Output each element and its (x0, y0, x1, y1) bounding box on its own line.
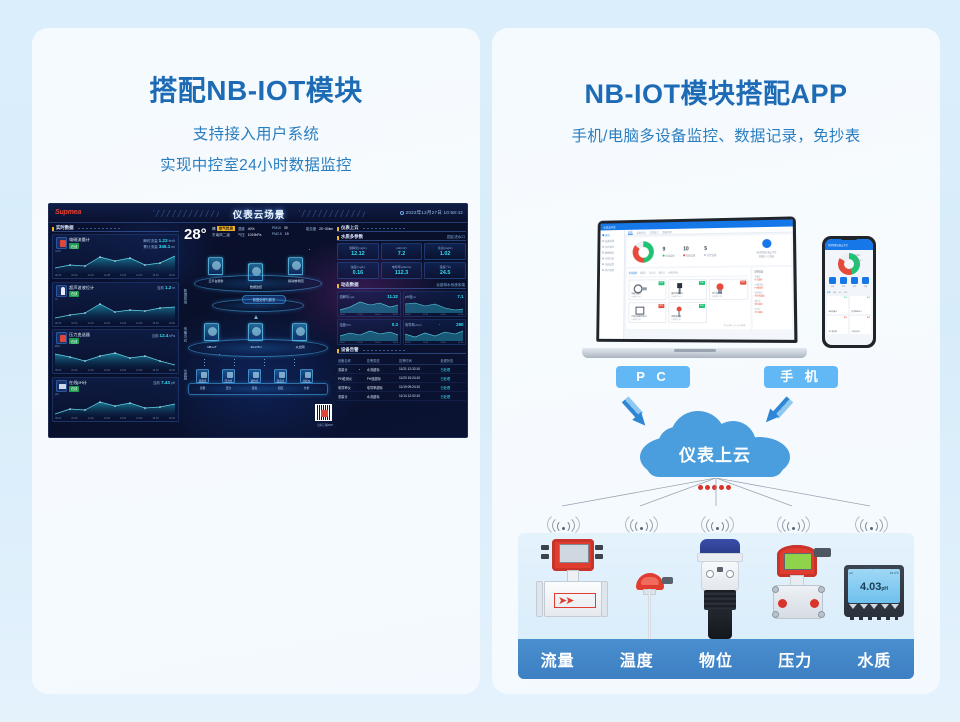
section-divider (78, 228, 120, 230)
param-value: 12.12 (339, 251, 377, 257)
qr-code[interactable] (315, 404, 332, 421)
param-label: 余氯(mg/L) (426, 246, 464, 250)
stat-value: 9 (663, 246, 675, 252)
axis-tick: 15:00 (152, 369, 158, 372)
axis-tick: 08:00 (55, 274, 61, 277)
list-item[interactable]: 压力计压力超标 (755, 307, 790, 313)
device-sub: 设备编号 003 (712, 295, 722, 297)
mini-chart: 溶解氧11.32mg/L 08:0012:0014:0016:00 (337, 291, 401, 317)
level-meter-horn (708, 609, 732, 639)
device-name: 超声波液位计 (852, 311, 862, 313)
level-meter-indicator (706, 570, 714, 578)
cell: PH检测仪 (337, 374, 366, 383)
label-flow: 流量 (518, 647, 597, 671)
tab-device-status[interactable]: 设备状态 (636, 230, 645, 234)
status-tag: 在线 (867, 297, 870, 299)
header-decoration-right (299, 210, 365, 217)
flowmeter-head (552, 539, 594, 571)
web-app-title: 仪表云平台 (603, 225, 615, 229)
axis-tick: 16:00 (169, 322, 175, 325)
label-level: 物位 (676, 647, 755, 671)
web-app-sidebar: 首页 设备管理 实时监控 数据报表 告警记录 系统设置 用户管理 (599, 230, 625, 339)
section-location: 园区进水口 (447, 235, 465, 240)
clock-icon (400, 211, 404, 215)
dynamic-charts-grid: 溶解氧11.32mg/L 08:0012:0014:0016:00 pH值7.1… (337, 291, 466, 345)
device-chip: 压力计 (222, 369, 235, 383)
phone-device-card[interactable]: 离线水质分析仪 (850, 316, 871, 334)
dashboard-header: Supmea 仪表云场景 2022年12月27日 10:58:42 (49, 204, 468, 223)
mini-axis: 08:0012:0014:0016:00 (340, 342, 399, 344)
sidebar-item-reports[interactable]: 数据报表 (602, 250, 622, 253)
card-header: 在线pH计 在线 当前 7.43 pH (55, 380, 176, 393)
chart-time-axis: 08:00 10:00 11:00 12:00 13:00 14:00 15:0… (55, 417, 175, 420)
pod-label: 云平台服务 (205, 279, 227, 283)
instrument-flowmeter: ➤➤ (528, 539, 616, 639)
connector-line (234, 359, 235, 367)
cell: 电导率仪 (337, 383, 366, 392)
right-panel: NB-IOT模块搭配APP 手机/电脑多设备监控、数据记录，免抄表 仪表云平台 … (492, 28, 940, 694)
probe-connector (662, 577, 673, 584)
alarm-list-title: 告警信息 (754, 269, 789, 273)
column-header: 设备名称 (337, 356, 366, 365)
device-card[interactable]: 离线 水质多参数分析仪 设备编号 004 (628, 302, 666, 323)
phone-tab-pressure[interactable]: 压力 (838, 291, 842, 294)
card-header: 压力变送器 在线 当前 12.4 kPa (55, 332, 176, 345)
filter-tab-level[interactable]: 液位计 (658, 270, 664, 274)
level-meter-indicator (726, 570, 734, 578)
donut-center-value: 24 (633, 241, 654, 263)
list-item[interactable]: 流量计水流超标 (754, 275, 789, 281)
axis-tick: 12:00 (104, 369, 110, 372)
param-box: 浊度(mg/L)0.16 (337, 262, 379, 279)
status-tag: 离线 (867, 317, 870, 319)
device-chip: 液位计 (248, 369, 261, 383)
axis-tick: 11:00 (88, 417, 94, 420)
dashboard-center-column: 28° 晴空气优良 东南风二级 湿度40% PM1039 能见度20~30km … (182, 225, 334, 247)
card-area-chart (55, 395, 175, 417)
device-name: 电磁流量计 (631, 292, 641, 295)
flowmeter-body (544, 581, 602, 617)
card-area-chart (55, 347, 175, 369)
metric-card[interactable]: 超声波液位计 在线 当前 1.2 m m 08:00 (52, 282, 179, 327)
cloud-shape: 仪表上云 (640, 411, 790, 477)
connector-line (264, 359, 265, 367)
section-divider (363, 228, 405, 230)
right-panel-subtitle: 手机/电脑多设备监控、数据记录，免抄表 (492, 124, 940, 146)
cell: 11/14 12:02:10 (398, 392, 439, 401)
layer-label: 仪表层 (183, 369, 188, 380)
device-card[interactable]: 在线 超声波液位计 设备编号 002 (668, 278, 707, 299)
axis-tick: 12:00 (104, 417, 110, 420)
label-pressure: 压力 (756, 647, 835, 671)
device-card[interactable]: 在线 温度变送器 设备编号 005 (668, 301, 707, 322)
flowmeter-flange (601, 581, 608, 617)
param-label: 浊度(mg/L) (339, 265, 377, 269)
label-temperature: 温度 (597, 647, 676, 671)
section-header-dynamic: 动态数据 北部排水系统末端 (337, 282, 466, 289)
device-name: 电磁流量计 (829, 311, 837, 313)
filter-tab-quality[interactable]: 水质分析仪 (668, 270, 679, 274)
axis-tick: 16:00 (169, 417, 175, 420)
quick-action-monitor[interactable]: 监控 (840, 277, 847, 288)
mini-chart-header: 浊度0.3NTU (340, 322, 399, 327)
analyzer-param: pH (849, 571, 853, 575)
laptop-mockup: 仪表云平台 首页 设备管理 实时监控 数据报表 告警记录 系统设置 用户管理 (582, 218, 807, 358)
column-header: 告警类型 (366, 356, 398, 365)
section-header-realtime: 实时数据 (52, 225, 179, 232)
axis-tick: 12:00 (104, 322, 110, 325)
axis-tick: 14:00 (136, 274, 142, 277)
transmitter-head (777, 545, 817, 577)
param-box: 电导率(μS/cm)112.3 (381, 262, 423, 279)
axis-tick: 14:00 (136, 369, 142, 372)
param-label: 温度(℃) (426, 265, 464, 269)
filter-tab-flow[interactable]: 流量计 (640, 271, 646, 275)
kpi-stat: 5告警设备 (704, 245, 716, 256)
tab-data-trend[interactable]: 数据趋势 (663, 229, 672, 233)
card-title: 超声波液位计 (69, 285, 94, 291)
weather-metric: 气压1019hPa (238, 232, 268, 237)
axis-tick: 15:00 (152, 274, 158, 277)
metric-card[interactable]: 电磁流量计 在线 瞬时流量 1.23 m³/h 累计流量 345.1 m³ m³… (52, 234, 179, 279)
axis-tick: 15:00 (152, 417, 158, 420)
device-name: 水质多参数分析仪 (631, 315, 647, 318)
wifi-signal-icon (854, 508, 888, 532)
chart-time-axis: 08:00 10:00 11:00 12:00 13:00 14:00 15:0… (55, 274, 175, 277)
flowmeter-port (541, 545, 549, 550)
param-label: 电导率(μS/cm) (383, 265, 421, 269)
device-sub: 设备编号 004 (631, 319, 641, 321)
table-row[interactable]: 流量计 水流超标 11/21 12:32:10 已处理 (337, 365, 466, 374)
cell: 11/19 09:24:10 (398, 383, 439, 392)
transmitter-screw (818, 611, 825, 618)
axis-tick: 10:00 (71, 274, 77, 277)
phone-stat: 离线 10 (855, 259, 862, 262)
param-value: 0.16 (339, 270, 377, 276)
section-header-alarm: 设备告警 (337, 347, 466, 354)
quick-action-alarms[interactable]: 告警 (862, 277, 869, 288)
analyzer-keypad[interactable] (849, 604, 899, 612)
weather-condition: 晴空气优良 (212, 227, 235, 232)
axis-tick: 11:00 (88, 274, 94, 277)
phone-stat: 告警 5 (855, 264, 862, 267)
sidebar-item-monitor[interactable]: 实时监控 (602, 245, 622, 248)
param-value: 1.02 (426, 251, 464, 257)
transmitter-conduit (814, 548, 831, 557)
metric-card[interactable]: 在线pH计 在线 当前 7.43 pH pH 08:00 (52, 377, 179, 422)
architecture-diagram: 云平台服务 数据监控 移动端/网页 数据处理与服务 NB-IoT 4G-DTU … (182, 249, 334, 434)
chart-time-axis: 08:00 10:00 11:00 12:00 13:00 14:00 15:0… (55, 369, 175, 372)
tag-pc[interactable]: P C (616, 366, 690, 388)
mini-chart-header: 电导率290μS/cm (405, 322, 464, 327)
level-meter-thread (704, 590, 736, 610)
phone-tab-level[interactable]: 液位 (844, 291, 848, 294)
device-status-tag: 在线 (658, 281, 663, 285)
device-name: 水质分析仪 (852, 331, 860, 333)
device-sub: 设备编号 005 (671, 319, 681, 321)
device-sub: 设备编号 001 (631, 296, 641, 298)
cell-status: 已处理 (439, 392, 466, 401)
instrument-row: ➤➤ (518, 537, 914, 639)
phone-stats: 在线 9 离线 10 告警 5 (855, 254, 862, 269)
status-badge: 在线 (69, 338, 79, 344)
axis-tick: 08:00 (55, 322, 61, 325)
ph-meter-icon (56, 380, 67, 392)
device-status-donut-chart: 24 (633, 241, 654, 263)
axis-tick: 16:00 (169, 369, 175, 372)
kpi-stat: 10离线设备 (683, 246, 695, 257)
weather-wind: 东南风二级 (212, 233, 230, 238)
flowmeter-flange (536, 581, 543, 617)
axis-tick: 16:00 (169, 274, 175, 277)
chip-label: 压力 (221, 386, 236, 390)
device-card[interactable]: 在线 电磁流量计 设备编号 001 (628, 279, 666, 300)
phone-tab-flow[interactable]: 流量 (833, 291, 837, 294)
instrument-water-analyzer: Supmea pH25.0℃ 4.03pH (844, 539, 906, 639)
dashboard-screenshot: Supmea 仪表云场景 2022年12月27日 10:58:42 实时数据 (48, 203, 468, 438)
devices-icon (829, 277, 836, 284)
architecture-ring (212, 299, 304, 312)
section-marker (52, 227, 54, 231)
device-status-tag: 在线 (699, 304, 705, 308)
quick-action-reports[interactable]: 报表 (851, 277, 858, 288)
chip-label: 液位 (247, 386, 262, 390)
device-name: 压力变送器 (829, 331, 837, 333)
card-header: 电磁流量计 在线 瞬时流量 1.23 m³/h 累计流量 345.1 m³ (55, 237, 176, 250)
phone-screen: 美控智慧仪表云平台 在线 9 离线 10 告警 5 设备 监控 报表 告警 (825, 239, 873, 345)
cell: 11/20 15:24:10 (398, 374, 439, 383)
list-item[interactable]: PH检测仪PH值超标 (754, 283, 789, 289)
stat-value: 5 (704, 245, 716, 251)
dashboard-right-column: 仪表上云 水质多参数 园区进水口 溶解氧(mg/L)12.12 pH(mV)7.… (337, 225, 466, 401)
right-panel-graphic: 仪表云平台 首页 设备管理 实时监控 数据报表 告警记录 系统设置 用户管理 (492, 178, 940, 698)
section-divider (363, 350, 405, 352)
card-metric-primary: 当前 7.43 pH (153, 380, 175, 386)
axis-tick: 08:00 (55, 417, 61, 420)
link-label: NB-IoT (201, 345, 223, 349)
pod-label: 数据监控 (245, 285, 267, 289)
sidebar-item-settings[interactable]: 系统设置 (602, 262, 622, 265)
up-arrow-icon (254, 315, 258, 319)
avatar (762, 239, 771, 248)
probe-cap (636, 573, 664, 590)
card-metric-primary: 当前 1.2 m (157, 285, 175, 291)
phone-device-card[interactable]: 在线超声波液位计 (850, 296, 871, 314)
level-meter-port (717, 567, 723, 572)
card-area-chart (55, 300, 175, 322)
filter-tab-pressure[interactable]: 压力计 (649, 270, 655, 274)
axis-tick: 13:00 (120, 369, 126, 372)
cell: 流量计 (337, 392, 366, 401)
axis-tick: 10:00 (71, 417, 77, 420)
monitor-icon (840, 277, 847, 284)
section-title: 动态数据 (341, 282, 359, 288)
tag-phone[interactable]: 手 机 (764, 366, 838, 388)
kpi-stat: 9在线设备 (663, 246, 675, 257)
metric-card[interactable]: 压力变送器 在线 当前 12.4 kPa kPa 08:00 (52, 329, 179, 374)
sidebar-item-users[interactable]: 用户管理 (602, 268, 622, 271)
status-tag: 在线 (844, 297, 847, 299)
device-sub: 设备编号 002 (671, 296, 681, 298)
device-chip: 温度计 (274, 369, 287, 383)
analyzer-brand: Supmea (848, 566, 900, 570)
instrument-label-bar: 流量 温度 物位 压力 水质 (518, 639, 914, 679)
status-badge: 在线 (69, 243, 79, 249)
list-item[interactable]: 电导率仪电导率超标 (754, 291, 789, 297)
alarms-icon (862, 277, 869, 284)
cell: 电导率超标 (366, 383, 398, 392)
probe-stem (648, 589, 651, 639)
table-row[interactable]: PH检测仪 PH值超标 11/20 15:24:10 已处理 (337, 374, 466, 383)
card-header: 超声波液位计 在线 当前 1.2 m (55, 285, 176, 298)
device-name: 超声波液位计 (671, 292, 683, 295)
laptop-screen: 仪表云平台 首页 设备管理 实时监控 数据报表 告警记录 系统设置 用户管理 (596, 216, 797, 343)
cell: 流量计 (337, 365, 366, 374)
status-tag: 离线 (844, 317, 847, 319)
dashboard-left-column: 实时数据 电磁流量计 在线 瞬时流量 1.23 m³/h 累计流量 345.1 … (52, 225, 179, 424)
column-header: 处理状态 (439, 356, 466, 365)
device-area: 全部设备 流量计 压力计 液位计 水质分析仪 在线 (626, 267, 792, 330)
key-icon[interactable] (870, 604, 878, 609)
flowmeter-port (541, 554, 549, 559)
instrument-pressure-transmitter (766, 539, 836, 639)
left-panel-subtitle-1: 支持接入用户系统 (32, 122, 480, 144)
instrument-temperature-probe (626, 539, 678, 639)
transmitter-screw (818, 586, 825, 593)
analyzer-temp: 25.0℃ (890, 571, 899, 575)
layer-label: 传输方式 (183, 327, 188, 342)
device-status-tag: 在线 (699, 281, 705, 285)
weather-metric-empty (306, 232, 340, 237)
phone-app-title: 美控智慧仪表云平台 (825, 239, 873, 250)
wifi-signal-icon (700, 508, 734, 532)
cell-status: 已处理 (439, 374, 466, 383)
cell-status: 已处理 (439, 365, 466, 374)
chart-time-axis: 08:00 10:00 11:00 12:00 13:00 14:00 15:0… (55, 322, 175, 325)
mini-chart: 浊度0.3NTU 08:0012:0014:0016:00 (337, 319, 401, 345)
section-title: 仪表上云 (341, 225, 359, 231)
param-box: 余氯(mg/L)1.02 (424, 243, 466, 260)
key-icon[interactable] (891, 604, 899, 609)
web-app: 仪表云平台 首页 设备管理 实时监控 数据报表 告警记录 系统设置 用户管理 (599, 219, 794, 339)
cloud-label: 仪表上云 (640, 441, 790, 466)
section-title: 设备告警 (341, 347, 359, 353)
quick-action-devices[interactable]: 设备 (829, 277, 836, 288)
sidebar-item-alarms[interactable]: 告警记录 (602, 256, 622, 259)
filter-tab-all[interactable]: 全部设备 (629, 271, 637, 275)
status-badge: 在线 (69, 386, 79, 392)
mini-axis: 08:0012:0014:0016:00 (405, 342, 464, 344)
tab-overview[interactable]: 总览 (628, 230, 633, 235)
flowmeter-port (595, 545, 603, 550)
axis-tick: 10:00 (71, 322, 77, 325)
sidebar-item-devices[interactable]: 设备管理 (602, 239, 622, 242)
param-box: 溶解氧(mg/L)12.12 (337, 243, 379, 260)
column-header: 告警时间 (398, 356, 439, 365)
param-label: pH(mV) (383, 246, 421, 250)
mini-chart-header: 溶解氧11.32mg/L (340, 294, 399, 299)
analyzer-screen-labels: pH25.0℃ (849, 571, 899, 575)
cell-status: 已处理 (439, 383, 466, 392)
analyzer-reading: 4.03pH (852, 581, 896, 593)
architecture-pod (288, 257, 303, 275)
param-value: 7.2 (383, 251, 421, 257)
card-title: 在线pH计 (69, 380, 87, 386)
user-info: 美控智慧仪表云平台 管理员 / 已登录 (746, 239, 787, 258)
stat-label: 告警设备 (704, 252, 716, 256)
axis-tick: 13:00 (120, 322, 126, 325)
device-card-grid: 在线 电磁流量计 设备编号 001 在线 超声波 (628, 278, 748, 323)
card-metric-primary: 当前 12.4 kPa (151, 333, 175, 339)
param-box: pH(mV)7.2 (381, 243, 423, 260)
web-app-main: 总览 设备状态 告警统计 数据趋势 24 9在线设备 10离线设备 5告警设备 (624, 226, 794, 339)
key-icon[interactable] (881, 604, 889, 609)
transmitter-screw (772, 611, 779, 618)
cell: 水流超标 (366, 392, 398, 401)
list-item[interactable]: 液位计液位超标 (755, 299, 790, 305)
layer-label: 数据应用 (183, 289, 188, 304)
key-icon[interactable] (860, 604, 868, 609)
cell: PH值超标 (366, 374, 398, 383)
axis-tick: 08:00 (55, 369, 61, 372)
label-water-quality: 水质 (835, 647, 914, 671)
mini-axis: 08:0012:0014:0016:00 (340, 314, 399, 316)
axis-tick: 13:00 (120, 274, 126, 277)
wifi-signal-icon (776, 508, 810, 532)
table-row[interactable]: 流量计 水流超标 11/14 12:02:10 已处理 (337, 392, 466, 401)
axis-tick: 12:00 (104, 274, 110, 277)
device-chip: 流量计 (196, 369, 209, 383)
axis-tick: 11:00 (88, 369, 94, 372)
stat-value: 10 (683, 246, 695, 252)
phone-device-card[interactable]: 离线压力变送器 (827, 316, 848, 334)
transmitter-bolt (778, 599, 787, 608)
section-title: 水质多参数 (341, 234, 363, 240)
table-row[interactable]: 电导率仪 电导率超标 11/19 09:24:10 已处理 (337, 383, 466, 392)
param-box: 温度(℃)24.5 (424, 262, 466, 279)
device-status-tag: 离线 (658, 304, 664, 308)
kpi-panel: 24 9在线设备 10离线设备 5告警设备 美控智慧仪表云平台 管理员 / 已登… (627, 235, 792, 267)
device-chip: 分析仪 (300, 369, 313, 383)
phone-stat: 在线 9 (855, 254, 862, 257)
device-card[interactable]: 离线 压力变送器 设备编号 003 (709, 278, 748, 299)
sidebar-item-home[interactable]: 首页 (602, 233, 622, 236)
phone-device-card[interactable]: 在线电磁流量计 (827, 296, 848, 314)
phone-filter-tabs: 全部 流量 压力 液位 (827, 291, 871, 294)
architecture-pod (208, 257, 223, 275)
transmitter-bolt (810, 599, 819, 608)
user-role: 管理员 / 已登录 (746, 253, 787, 258)
weather-metrics: 湿度40% PM1039 能见度20~30km 气压1019hPa PM2.51… (238, 226, 340, 237)
chip-label: 分析 (299, 386, 314, 390)
key-icon[interactable] (849, 604, 857, 609)
phone-tab-all[interactable]: 全部 (827, 291, 831, 294)
reports-icon (851, 277, 858, 284)
mini-chart: pH值7.1pH 08:0012:0014:0016:00 (403, 291, 467, 317)
tab-alarm-stats[interactable]: 告警统计 (649, 230, 658, 234)
section-header-water-quality: 水质多参数 园区进水口 (337, 234, 466, 241)
wifi-signal-icon (546, 508, 580, 532)
signal-fan (520, 478, 912, 540)
section-marker (337, 349, 339, 353)
param-value: 112.3 (383, 270, 421, 276)
architecture-ring (194, 275, 322, 292)
stat-label: 在线设备 (663, 253, 675, 257)
device-filter-tabs: 全部设备 流量计 压力计 液位计 水质分析仪 (629, 269, 749, 277)
pagination[interactable]: 共 24 条 1 2 3 › 10 条/页 (628, 323, 748, 328)
phone-mockup: 美控智慧仪表云平台 在线 9 离线 10 告警 5 设备 监控 报表 告警 (822, 236, 876, 348)
wifi-signal-icon (624, 508, 658, 532)
